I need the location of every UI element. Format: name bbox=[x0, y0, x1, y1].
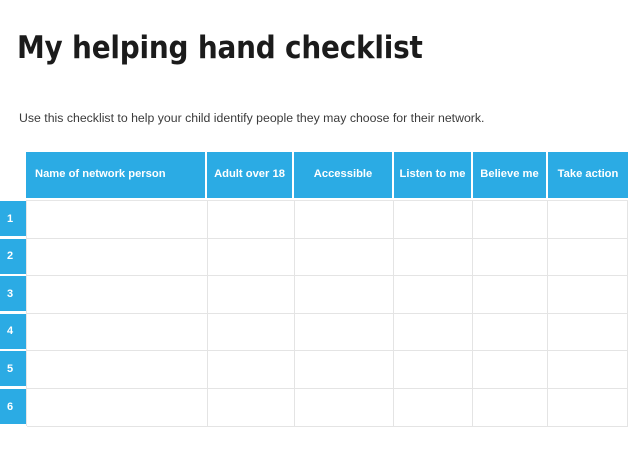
row-number-1: 1 bbox=[0, 201, 26, 236]
column-header-label: Believe me bbox=[480, 168, 538, 182]
table-row bbox=[27, 276, 628, 314]
table-row bbox=[27, 351, 628, 389]
table-header-row: Name of network personAdult over 18Acces… bbox=[26, 152, 628, 198]
table-cell-r4-c2[interactable] bbox=[208, 314, 295, 352]
table-cell-r6-c6[interactable] bbox=[548, 389, 628, 427]
table-cell-r4-c3[interactable] bbox=[295, 314, 395, 352]
table-cell-r1-c4[interactable] bbox=[394, 201, 473, 239]
table-cell-r6-c4[interactable] bbox=[394, 389, 473, 427]
table-cell-r1-c2[interactable] bbox=[208, 201, 295, 239]
table-cell-r4-c6[interactable] bbox=[548, 314, 628, 352]
checklist-page: My helping hand checklist Use this check… bbox=[0, 0, 640, 452]
column-header-2: Accessible bbox=[294, 152, 394, 198]
table-cell-r2-c3[interactable] bbox=[295, 239, 395, 277]
table-row bbox=[27, 314, 628, 352]
table-cell-r4-c4[interactable] bbox=[394, 314, 473, 352]
table-cell-r2-c4[interactable] bbox=[394, 239, 473, 277]
table-row bbox=[27, 389, 628, 427]
table-cell-r5-c3[interactable] bbox=[295, 351, 395, 389]
row-number-6: 6 bbox=[0, 389, 26, 424]
table-cell-r1-c5[interactable] bbox=[473, 201, 548, 239]
table-cell-r5-c6[interactable] bbox=[548, 351, 628, 389]
table-cell-r5-c4[interactable] bbox=[394, 351, 473, 389]
table-cell-r5-c5[interactable] bbox=[473, 351, 548, 389]
intro-text: Use this checklist to help your child id… bbox=[19, 110, 484, 126]
table-cell-r2-c1[interactable] bbox=[27, 239, 208, 277]
row-number-5: 5 bbox=[0, 351, 26, 386]
checklist-table: 123456 Name of network personAdult over … bbox=[0, 152, 628, 426]
table-cell-r1-c3[interactable] bbox=[295, 201, 395, 239]
column-header-label: Accessible bbox=[314, 168, 372, 182]
column-header-5: Take action bbox=[548, 152, 628, 198]
table-cell-r3-c6[interactable] bbox=[548, 276, 628, 314]
table-cell-r4-c5[interactable] bbox=[473, 314, 548, 352]
column-header-1: Adult over 18 bbox=[207, 152, 294, 198]
table-cell-r3-c3[interactable] bbox=[295, 276, 395, 314]
row-number-4: 4 bbox=[0, 314, 26, 349]
row-number-column: 123456 bbox=[0, 200, 26, 426]
table-cell-r6-c5[interactable] bbox=[473, 389, 548, 427]
table-cell-r6-c2[interactable] bbox=[208, 389, 295, 427]
table-cell-r5-c1[interactable] bbox=[27, 351, 208, 389]
table-cell-r2-c2[interactable] bbox=[208, 239, 295, 277]
table-cell-r6-c3[interactable] bbox=[295, 389, 395, 427]
table-cell-r3-c4[interactable] bbox=[394, 276, 473, 314]
page-title: My helping hand checklist bbox=[17, 29, 423, 67]
table-cell-r2-c6[interactable] bbox=[548, 239, 628, 277]
table-cell-r4-c1[interactable] bbox=[27, 314, 208, 352]
table-cell-r6-c1[interactable] bbox=[27, 389, 208, 427]
column-header-label: Name of network person bbox=[35, 168, 166, 182]
table-cell-r2-c5[interactable] bbox=[473, 239, 548, 277]
column-header-label: Take action bbox=[558, 168, 619, 182]
table-cell-r5-c2[interactable] bbox=[208, 351, 295, 389]
row-number-3: 3 bbox=[0, 276, 26, 311]
column-header-label: Adult over 18 bbox=[214, 168, 285, 182]
column-header-label: Listen to me bbox=[400, 168, 466, 182]
row-number-2: 2 bbox=[0, 239, 26, 274]
table-body bbox=[26, 200, 628, 426]
column-header-3: Listen to me bbox=[394, 152, 473, 198]
table-cell-r3-c5[interactable] bbox=[473, 276, 548, 314]
column-header-4: Believe me bbox=[473, 152, 548, 198]
table-cell-r1-c1[interactable] bbox=[27, 201, 208, 239]
column-header-0: Name of network person bbox=[26, 152, 207, 198]
table-cell-r3-c2[interactable] bbox=[208, 276, 295, 314]
table-row bbox=[27, 201, 628, 239]
table-cell-r3-c1[interactable] bbox=[27, 276, 208, 314]
table-cell-r1-c6[interactable] bbox=[548, 201, 628, 239]
table-row bbox=[27, 239, 628, 277]
